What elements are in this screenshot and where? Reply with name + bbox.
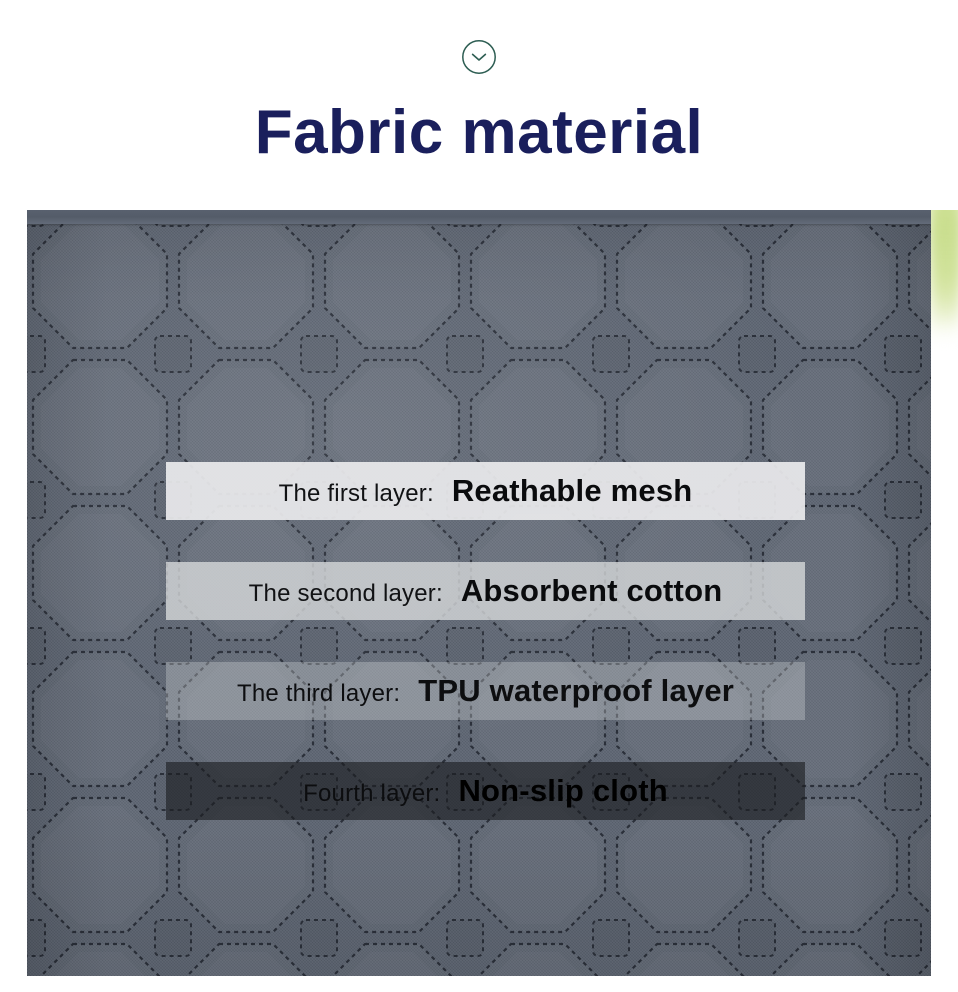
layer-value: Reathable mesh: [452, 473, 693, 509]
layer-label: The second layer:: [249, 580, 443, 608]
bottom-white-strip: [0, 976, 958, 992]
fabric-layer-list: The first layer: Reathable mesh The seco…: [166, 462, 805, 820]
layer-row-fourth: Fourth layer: Non-slip cloth: [166, 762, 805, 820]
layer-row-third: The third layer: TPU waterproof layer: [166, 662, 805, 720]
page-title: Fabric material: [0, 102, 958, 164]
layer-row-text: The second layer: Absorbent cotton: [166, 573, 805, 609]
product-infographic-page: Fabric material The first layer: Reathab…: [0, 0, 958, 992]
layer-row-text: The third layer: TPU waterproof layer: [166, 673, 805, 709]
layer-row-text: Fourth layer: Non-slip cloth: [166, 773, 805, 809]
layer-label: The first layer:: [279, 480, 434, 508]
layer-value: Absorbent cotton: [461, 573, 723, 609]
layer-value: Non-slip cloth: [458, 773, 667, 809]
layer-label: Fourth layer:: [303, 780, 440, 808]
layer-label: The third layer:: [237, 680, 400, 708]
fabric-top-hem: [27, 208, 931, 224]
layer-value: TPU waterproof layer: [418, 673, 734, 709]
layer-row-text: The first layer: Reathable mesh: [166, 473, 805, 509]
header: Fabric material: [0, 0, 958, 210]
chevron-down-circle-icon[interactable]: [461, 39, 497, 75]
layer-row-second: The second layer: Absorbent cotton: [166, 562, 805, 620]
layer-row-first: The first layer: Reathable mesh: [166, 462, 805, 520]
